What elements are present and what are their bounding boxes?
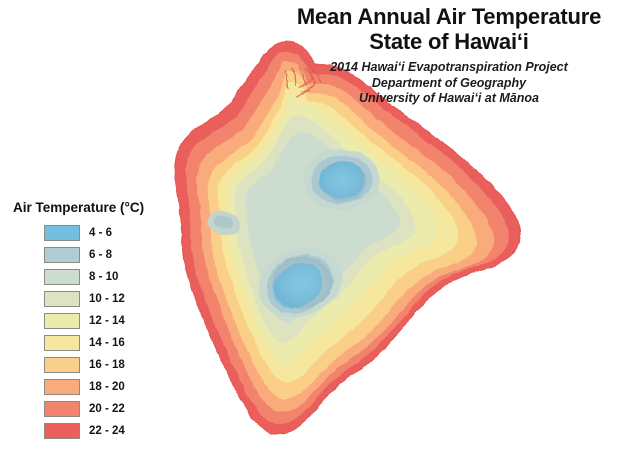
legend-item-label: 16 - 18 <box>89 359 125 371</box>
legend-item[interactable]: 14 - 16 <box>10 332 144 354</box>
legend-color-swatch <box>44 335 80 351</box>
legend-color-swatch <box>44 225 80 241</box>
map-page: Mean Annual Air Temperature State of Haw… <box>0 0 620 456</box>
legend-color-swatch <box>44 247 80 263</box>
legend-color-swatch <box>44 401 80 417</box>
legend-color-swatch <box>44 423 80 439</box>
legend-item-label: 12 - 14 <box>89 315 125 327</box>
legend-item[interactable]: 22 - 24 <box>10 420 144 442</box>
legend-item-label: 8 - 10 <box>89 271 118 283</box>
legend-item-label: 10 - 12 <box>89 293 125 305</box>
peak-mauna-loa-shading <box>272 257 332 309</box>
legend-color-swatch <box>44 291 80 307</box>
peak-mauna-kea-shading <box>319 161 367 201</box>
legend-rows: 4 - 66 - 88 - 1010 - 1212 - 1414 - 1616 … <box>10 222 144 442</box>
subtitle-line-3: University of Hawaiʻi at Mānoa <box>282 91 616 107</box>
legend-color-swatch <box>44 357 80 373</box>
legend-color-swatch <box>44 313 80 329</box>
legend-item[interactable]: 8 - 10 <box>10 266 144 288</box>
legend-item[interactable]: 12 - 14 <box>10 310 144 332</box>
page-title-line-2: State of Hawaiʻi <box>282 29 616 54</box>
subtitle-line-2: Department of Geography <box>282 76 616 92</box>
legend-item-label: 14 - 16 <box>89 337 125 349</box>
legend-item-label: 22 - 24 <box>89 425 125 437</box>
legend: Air Temperature (°C) 4 - 66 - 88 - 1010 … <box>10 200 144 442</box>
legend-item-label: 18 - 20 <box>89 381 125 393</box>
subtitle-block: 2014 Hawaiʻi Evapotranspiration Project … <box>282 60 616 107</box>
legend-color-swatch <box>44 379 80 395</box>
legend-item[interactable]: 20 - 22 <box>10 398 144 420</box>
legend-item[interactable]: 6 - 8 <box>10 244 144 266</box>
legend-item[interactable]: 16 - 18 <box>10 354 144 376</box>
page-title-line-1: Mean Annual Air Temperature <box>282 4 616 29</box>
legend-item[interactable]: 4 - 6 <box>10 222 144 244</box>
legend-item[interactable]: 18 - 20 <box>10 376 144 398</box>
title-block: Mean Annual Air Temperature State of Haw… <box>282 4 616 107</box>
legend-item-label: 20 - 22 <box>89 403 125 415</box>
legend-title: Air Temperature (°C) <box>13 200 144 215</box>
legend-item-label: 6 - 8 <box>89 249 112 261</box>
legend-color-swatch <box>44 269 80 285</box>
subtitle-line-1: 2014 Hawaiʻi Evapotranspiration Project <box>282 60 616 76</box>
legend-item-label: 4 - 6 <box>89 227 112 239</box>
legend-item[interactable]: 10 - 12 <box>10 288 144 310</box>
